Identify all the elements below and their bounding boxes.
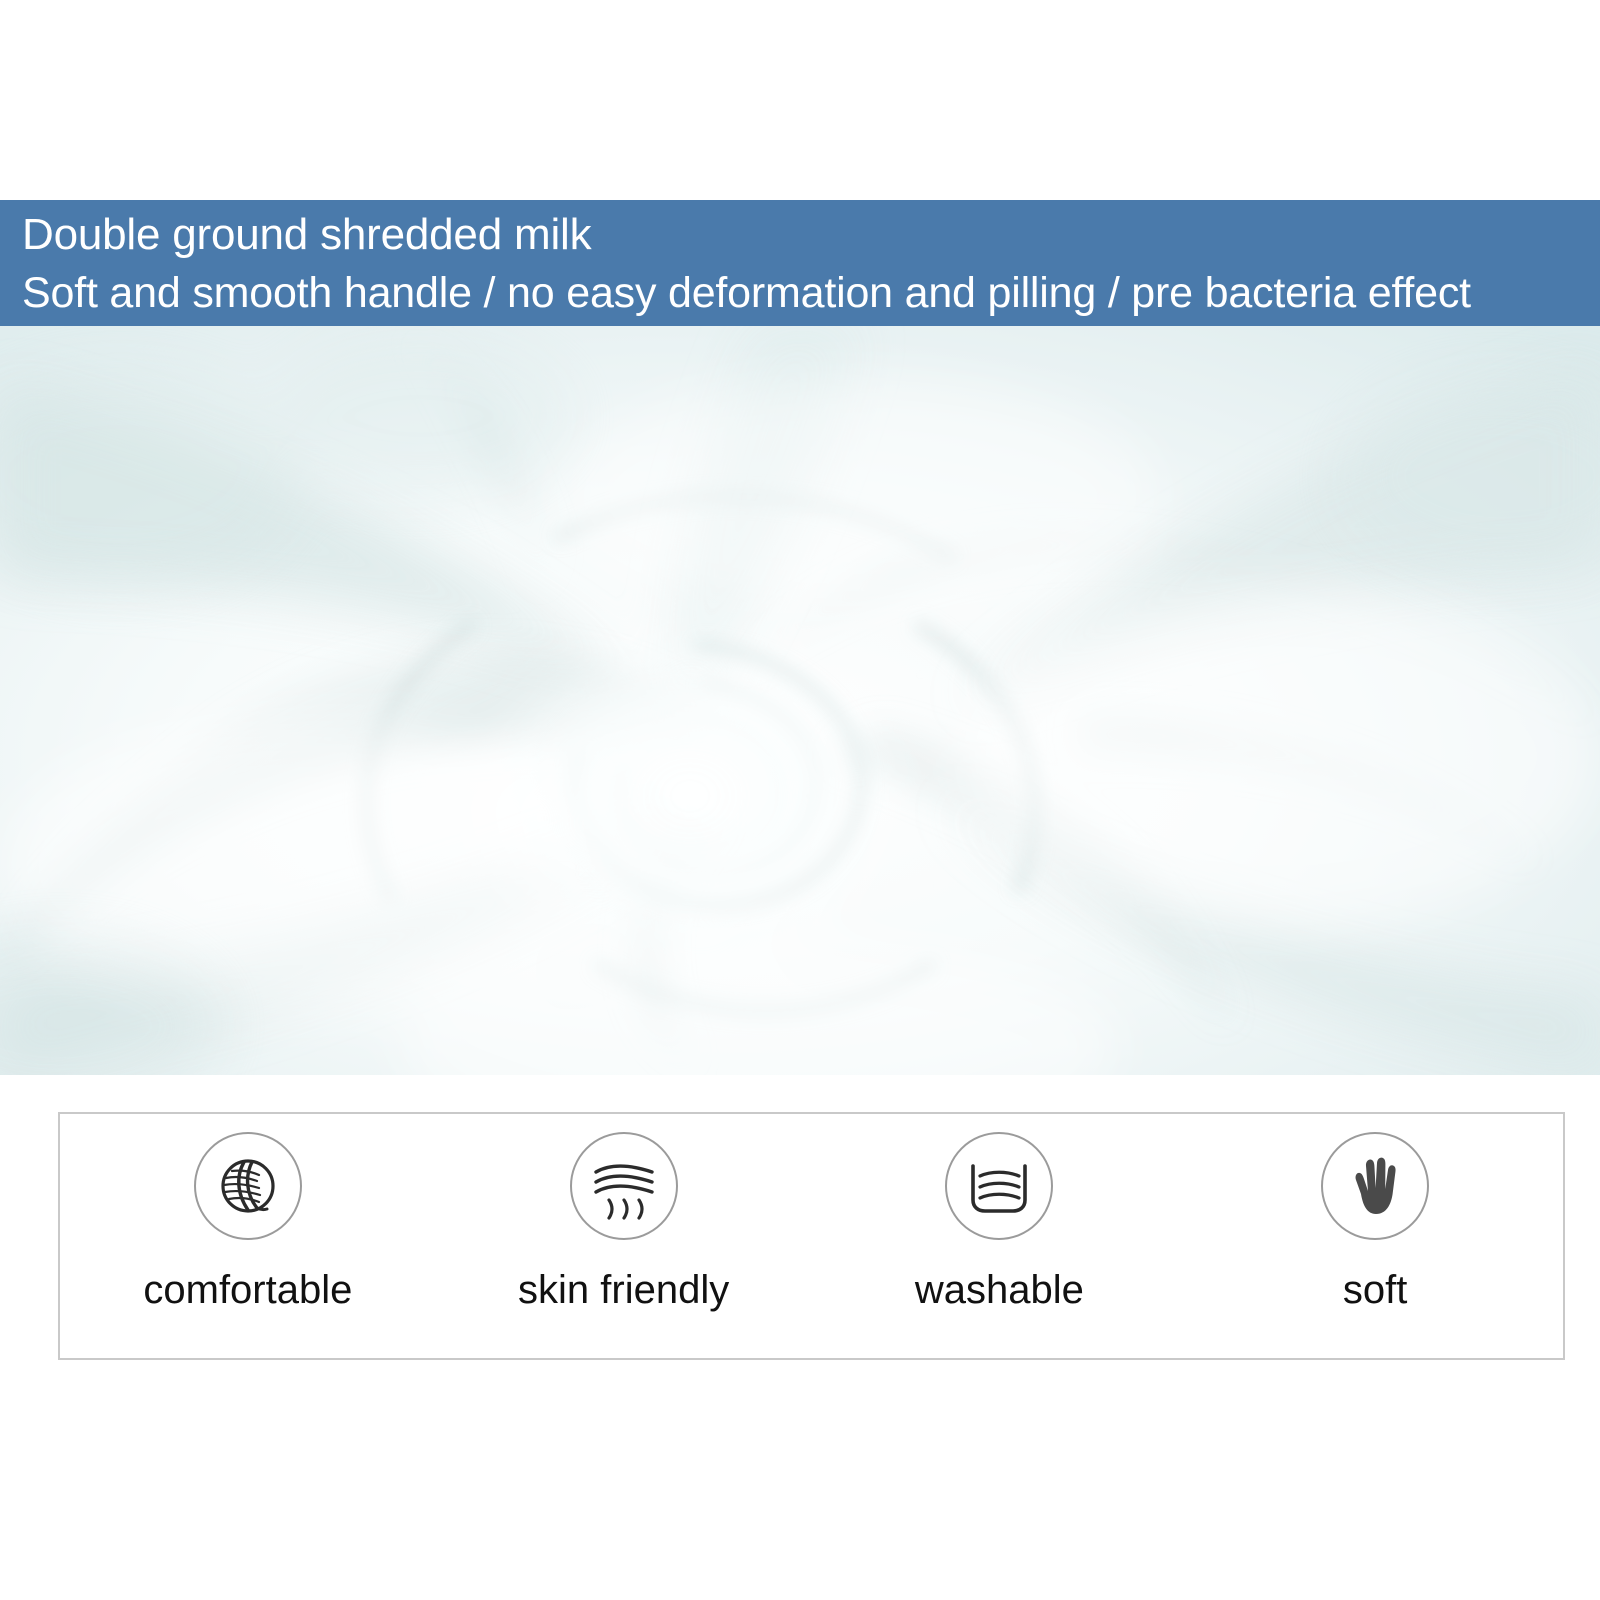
wash-basin-icon: [945, 1132, 1053, 1240]
feature-icons-panel: comfortable skin friendly: [58, 1112, 1565, 1360]
feature-item-comfortable: comfortable: [60, 1114, 436, 1312]
fabric-swirl-illustration: [0, 326, 1600, 1075]
yarn-ball-icon: [194, 1132, 302, 1240]
bottom-white-margin: [0, 1360, 1600, 1600]
feature-item-soft: soft: [1187, 1114, 1563, 1312]
hand-icon: [1321, 1132, 1429, 1240]
feature-label: washable: [915, 1268, 1084, 1312]
feature-label: comfortable: [143, 1268, 352, 1312]
headline-banner: Double ground shredded milk Soft and smo…: [0, 200, 1600, 326]
banner-headline-secondary: Soft and smooth handle / no easy deforma…: [22, 264, 1600, 322]
feature-label: skin friendly: [518, 1268, 729, 1312]
feature-item-washable: washable: [812, 1114, 1188, 1312]
feature-item-skin-friendly: skin friendly: [436, 1114, 812, 1312]
top-white-margin: [0, 0, 1600, 200]
fabric-swirl-photo: [0, 326, 1600, 1075]
banner-headline-primary: Double ground shredded milk: [22, 206, 1600, 264]
photo-bottom-margin: [0, 1075, 1600, 1112]
fabric-waves-icon: [570, 1132, 678, 1240]
feature-label: soft: [1343, 1268, 1407, 1312]
